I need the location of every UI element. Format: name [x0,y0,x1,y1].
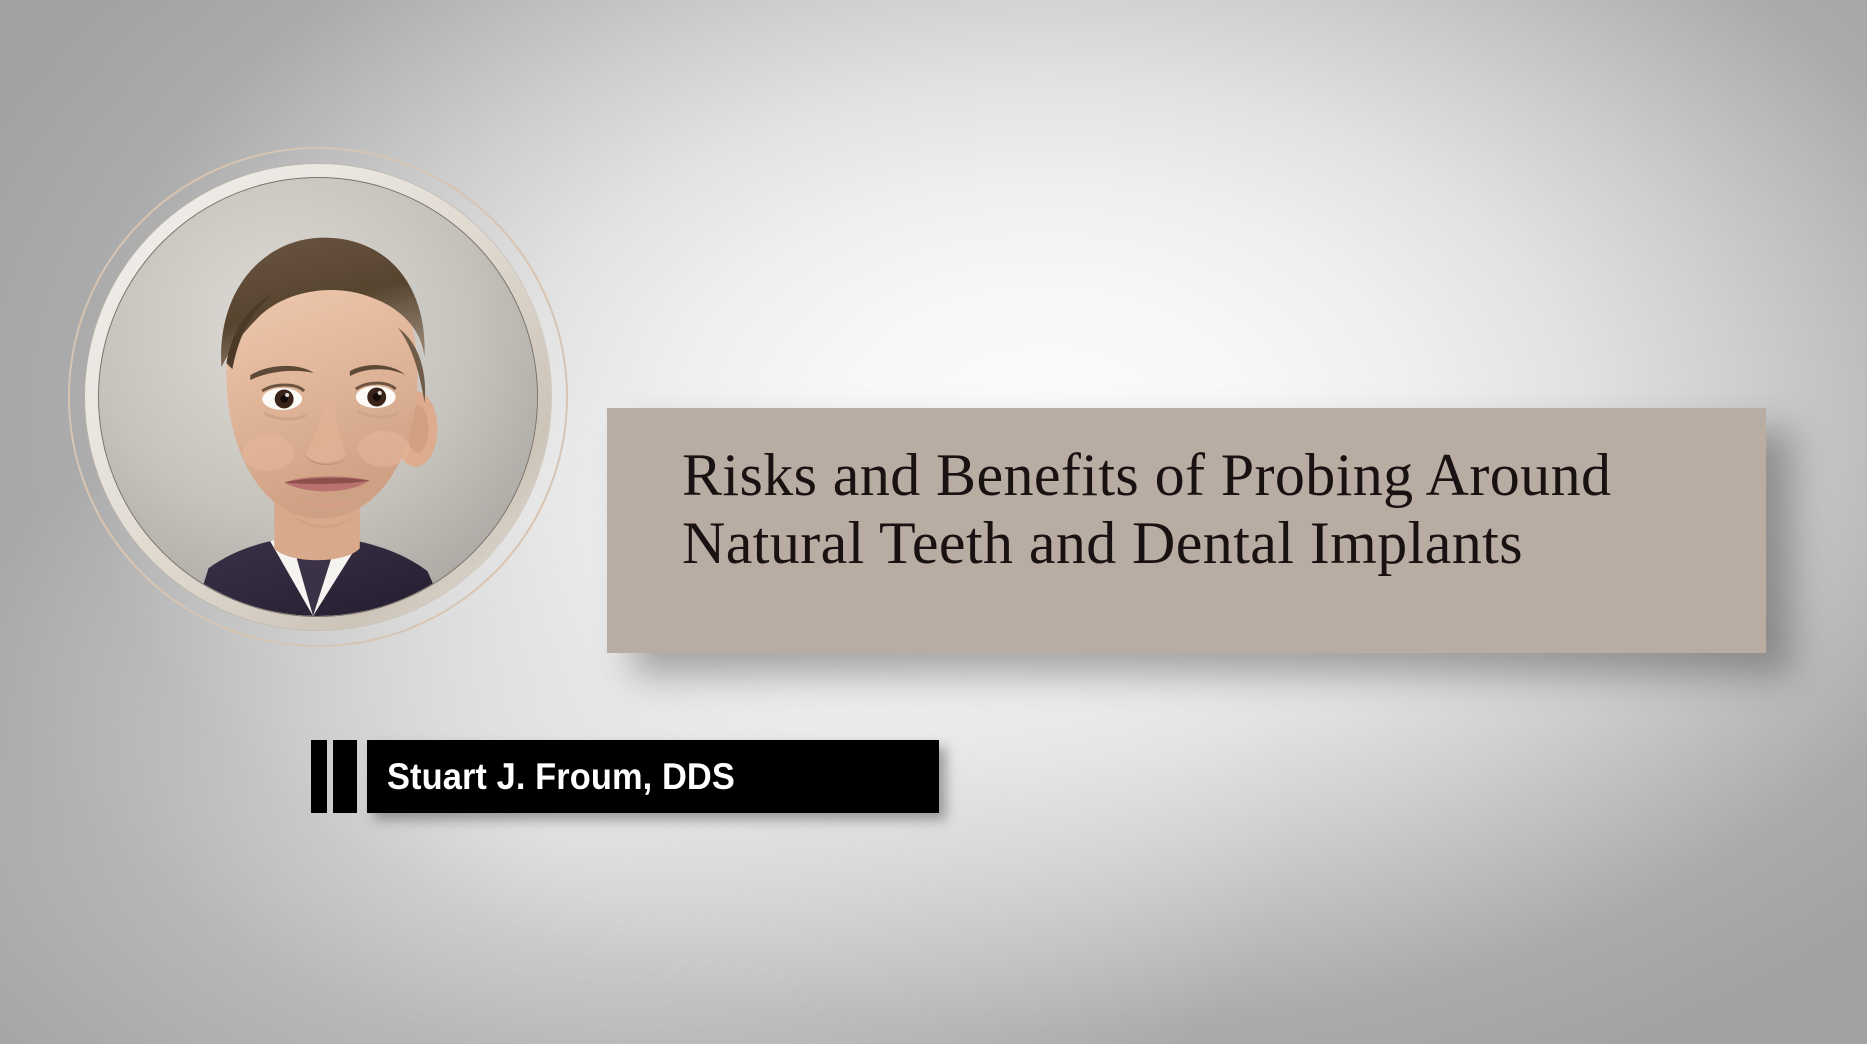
avatar [99,178,537,616]
presenter-name: Stuart J. Froum, DDS [387,740,735,813]
title-plaque: Risks and Benefits of Probing Around Nat… [607,408,1766,653]
portrait-frame [98,177,538,617]
title-slide: Risks and Benefits of Probing Around Nat… [0,0,1867,1044]
name-accent-tick-1 [311,740,327,813]
presenter-portrait-medallion [68,147,568,647]
presenter-name-bar: Stuart J. Froum, DDS [367,740,939,813]
name-accent-tick-2 [333,740,357,813]
page-title: Risks and Benefits of Probing Around Nat… [682,442,1702,578]
